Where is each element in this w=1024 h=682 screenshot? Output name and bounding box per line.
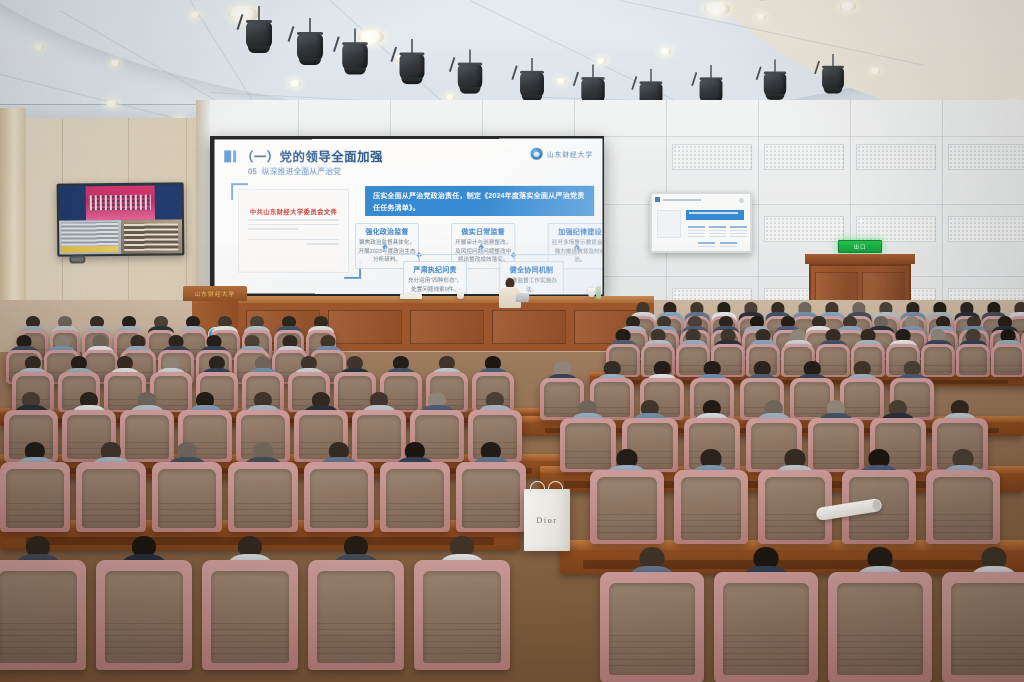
ceiling-downlight — [289, 80, 301, 87]
auditorium-seat[interactable] — [0, 560, 86, 670]
slide-banner: 压实全面从严治党政治责任，制定《2024年度落实全面从严治党责任任务清单》。 — [365, 186, 594, 216]
ceiling-downlight — [870, 68, 880, 74]
auditorium-seat[interactable] — [414, 560, 510, 670]
presentation-slide: （一）党的领导全面加强 05纵深推进全面从严治党 山东财经大学 中共山东财经大学… — [214, 138, 602, 294]
slide-node-title: 做实日常监督 — [454, 227, 512, 237]
stage-spotlight — [244, 6, 274, 56]
stage-spotlight — [820, 54, 845, 96]
acoustic-panel — [948, 216, 1024, 242]
auditorium-seat[interactable] — [590, 470, 664, 544]
auditorium-seat[interactable] — [228, 462, 298, 532]
slide-node-title: 健全协同机制 — [502, 265, 560, 275]
auditorium-seat[interactable] — [76, 462, 146, 532]
auditorium-seat[interactable] — [202, 560, 298, 670]
projection-screen: （一）党的领导全面加强 05纵深推进全面从严治党 山东财经大学 中共山东财经大学… — [210, 136, 604, 298]
acoustic-panel — [764, 144, 844, 170]
stage-spotlight — [762, 60, 788, 103]
wall-monitor-right — [650, 192, 752, 253]
slide-section: 05纵深推进全面从严治党 — [248, 166, 341, 177]
acoustic-panel — [948, 144, 1024, 170]
auditorium-seat[interactable] — [304, 462, 374, 532]
slide-section-label: 纵深推进全面从严治党 — [262, 167, 341, 176]
ceiling-downlight — [756, 14, 766, 20]
ceiling-downlight — [34, 44, 44, 50]
bag-handle — [530, 481, 545, 492]
ceiling-downlight — [596, 58, 606, 64]
auditorium-seat[interactable] — [808, 418, 864, 472]
stage-spotlight — [295, 18, 325, 68]
stage-spotlight — [398, 39, 427, 87]
auditorium-seat[interactable] — [942, 572, 1024, 682]
ceiling-downlight — [445, 94, 455, 100]
doc-text-line — [248, 239, 339, 241]
water-cup — [457, 290, 464, 299]
exit-sign: 出口 — [838, 240, 882, 253]
mini-slide-banner — [686, 210, 744, 220]
exit-sign-label: 出口 — [853, 243, 866, 251]
auditorium-seat[interactable] — [0, 462, 70, 532]
tv-feed-top — [59, 184, 182, 220]
auditorium-seat[interactable] — [956, 344, 990, 377]
ceiling-downlight — [659, 48, 671, 55]
lectern-nameplate: 山东财经大学 — [183, 286, 247, 301]
stage-spotlight — [340, 29, 369, 78]
slide-node-group: 强化政治监督聚焦政治监督具体化，开展2023年度政治生态分析研判。做实日常监督开… — [214, 138, 602, 139]
auditorium-seat[interactable] — [926, 470, 1000, 544]
doc-text-line — [248, 228, 298, 230]
mini-slide-logo — [739, 198, 744, 203]
auditorium-seat[interactable] — [674, 470, 748, 544]
slide-title: （一）党的领导全面加强 — [241, 146, 383, 165]
presenter-laptop — [516, 293, 530, 302]
audience-desk — [560, 540, 1024, 574]
acoustic-panel — [856, 216, 936, 242]
slide-title-marker-icon — [224, 150, 236, 162]
auditorium-seat[interactable] — [120, 410, 174, 462]
slide-node-title: 强化政治监督 — [358, 227, 416, 237]
tv-feed-bottom-right — [121, 219, 183, 254]
university-crest-icon — [531, 148, 543, 160]
auditorium-seat[interactable] — [828, 572, 932, 682]
doc-text-line — [306, 243, 339, 245]
water-bottle — [596, 286, 601, 299]
slide-logo-text: 山东财经大学 — [547, 149, 593, 159]
head-table-top — [236, 296, 654, 303]
auditorium-seat[interactable] — [600, 572, 704, 682]
auditorium-seat[interactable] — [380, 462, 450, 532]
water-cup — [588, 288, 595, 297]
slide-node-body: 充分运用“四种形态”，处置问题线索9件。 — [406, 277, 464, 294]
document-card-header: 中共山东财经大学委员会文件 — [239, 207, 348, 216]
auditorium-seat[interactable] — [991, 344, 1024, 377]
ceiling-downlight — [556, 78, 566, 84]
doc-text-line — [248, 219, 339, 221]
auditorium-seat[interactable] — [352, 410, 406, 462]
slide-node-title: 严肃执纪问责 — [406, 265, 464, 275]
slide-title-row: （一）党的领导全面加强 — [224, 146, 383, 165]
auditorium-seat[interactable] — [152, 462, 222, 532]
auditorium-seat[interactable] — [560, 418, 616, 472]
mini-slide-header — [655, 197, 701, 202]
acoustic-panel — [856, 144, 936, 170]
slide-org-logo: 山东财经大学 — [531, 148, 593, 160]
stage-spotlight — [456, 50, 484, 97]
auditorium-seat[interactable] — [714, 572, 818, 682]
ceiling-downlight — [190, 12, 200, 18]
bag-handle — [548, 481, 563, 492]
slide-node-title: 加强纪律建设 — [551, 227, 603, 237]
tv-feed-bottom-left — [59, 220, 121, 255]
ceiling-downlight — [106, 100, 118, 107]
lectern-plate-text: 山东财经大学 — [195, 290, 236, 298]
acoustic-panel — [764, 216, 844, 242]
tv-mount-bracket — [69, 255, 85, 263]
slide-document-card: 中共山东财经大学委员会文件 — [238, 189, 349, 273]
auditorium-seat[interactable] — [456, 462, 526, 532]
conference-hall-scene: 出口 （一）党的领导全面加强 05纵深推进全面从严治党 山东财经大学 — [0, 0, 1024, 682]
bag-brand-label: Dior — [524, 516, 570, 525]
auditorium-seat[interactable] — [96, 560, 192, 670]
slide-section-number: 05 — [248, 167, 257, 176]
auditorium-seat[interactable] — [921, 344, 955, 377]
stage-spotlight — [518, 58, 546, 104]
doc-text-line — [248, 224, 339, 226]
shopping-bag: Dior — [524, 489, 570, 551]
table-paper — [400, 294, 422, 299]
mini-slide-doc-card — [657, 210, 681, 238]
wall-monitor-left — [57, 182, 185, 256]
ceiling-downlight — [110, 60, 120, 66]
acoustic-panel — [672, 144, 752, 170]
door-lintel — [805, 254, 915, 264]
ceiling-downlight — [840, 2, 856, 11]
auditorium-seat[interactable] — [308, 560, 404, 670]
